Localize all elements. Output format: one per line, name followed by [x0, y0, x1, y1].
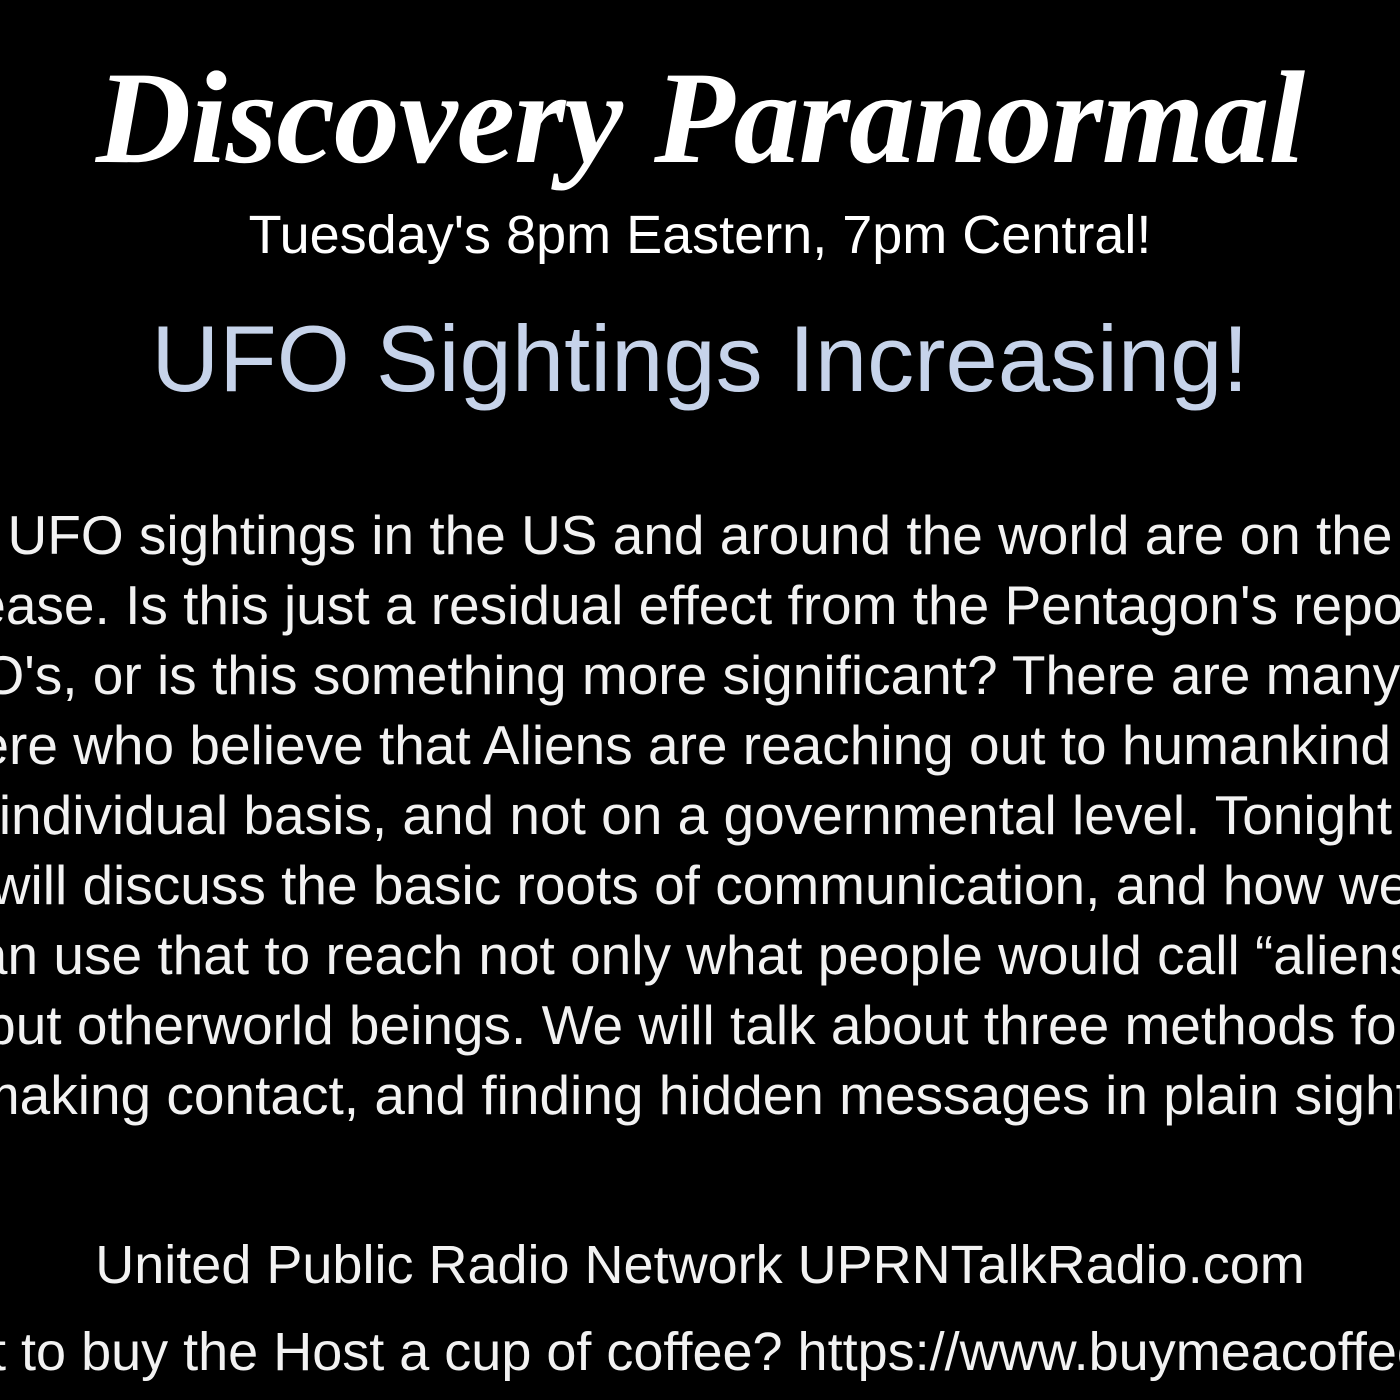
description-line: will discuss the basic roots of communic… [0, 850, 1400, 920]
network-credit: United Public Radio Network UPRNTalkRadi… [0, 1228, 1400, 1303]
description-line: an individual basis, and not on a govern… [0, 780, 1400, 850]
description-line: making contact, and finding hidden messa… [0, 1060, 1400, 1130]
description-line: but otherworld beings. We will talk abou… [0, 990, 1400, 1060]
description-line: UFO's, or is this something more signifi… [0, 640, 1400, 710]
description-line: UFO sightings in the US and around the w… [0, 500, 1400, 570]
episode-description: UFO sightings in the US and around the w… [0, 500, 1400, 1130]
support-link: Want to buy the Host a cup of coffee? ht… [0, 1315, 1400, 1390]
description-line: there who believe that Aliens are reachi… [0, 710, 1400, 780]
description-line: increase. Is this just a residual effect… [0, 570, 1400, 640]
podcast-episode-poster: Discovery Paranormal Tuesday's 8pm Easte… [0, 0, 1400, 1400]
description-line: can use that to reach not only what peop… [0, 920, 1400, 990]
footer-spacer [0, 1303, 1400, 1315]
poster-footer: United Public Radio Network UPRNTalkRadi… [0, 1228, 1400, 1390]
airtime-subtitle: Tuesday's 8pm Eastern, 7pm Central! [0, 207, 1400, 264]
show-title: Discovery Paranormal [0, 52, 1400, 184]
episode-headline: UFO Sightings Increasing! [0, 310, 1400, 409]
